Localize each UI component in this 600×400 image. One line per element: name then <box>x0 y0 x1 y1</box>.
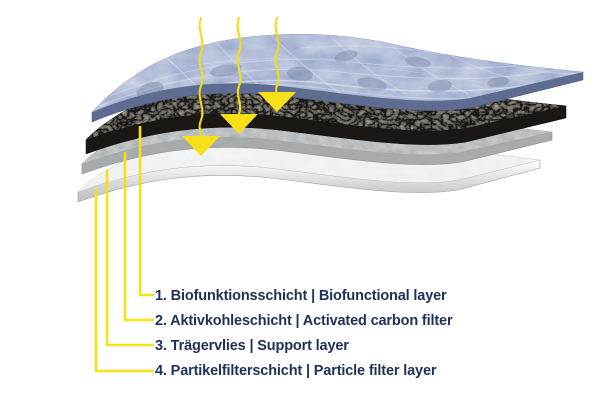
legend-label-1: 1. Biofunktionsschicht | Biofunctional l… <box>155 288 447 304</box>
legend-item-1: 1. Biofunktionsschicht | Biofunctional l… <box>155 283 585 308</box>
legend-label-4: 4. Partikelfilterschicht | Particle filt… <box>155 363 436 379</box>
legend-label-2: 2. Aktivkohleschicht | Activated carbon … <box>155 313 452 329</box>
legend-item-2: 2. Aktivkohleschicht | Activated carbon … <box>155 308 585 333</box>
layer-legend: 1. Biofunktionsschicht | Biofunctional l… <box>155 283 585 383</box>
filter-diagram-figure: 1. Biofunktionsschicht | Biofunctional l… <box>0 0 600 400</box>
legend-item-3: 3. Trägervlies | Support layer <box>155 333 585 358</box>
legend-label-3: 3. Trägervlies | Support layer <box>155 338 349 354</box>
legend-item-4: 4. Partikelfilterschicht | Particle filt… <box>155 358 585 383</box>
